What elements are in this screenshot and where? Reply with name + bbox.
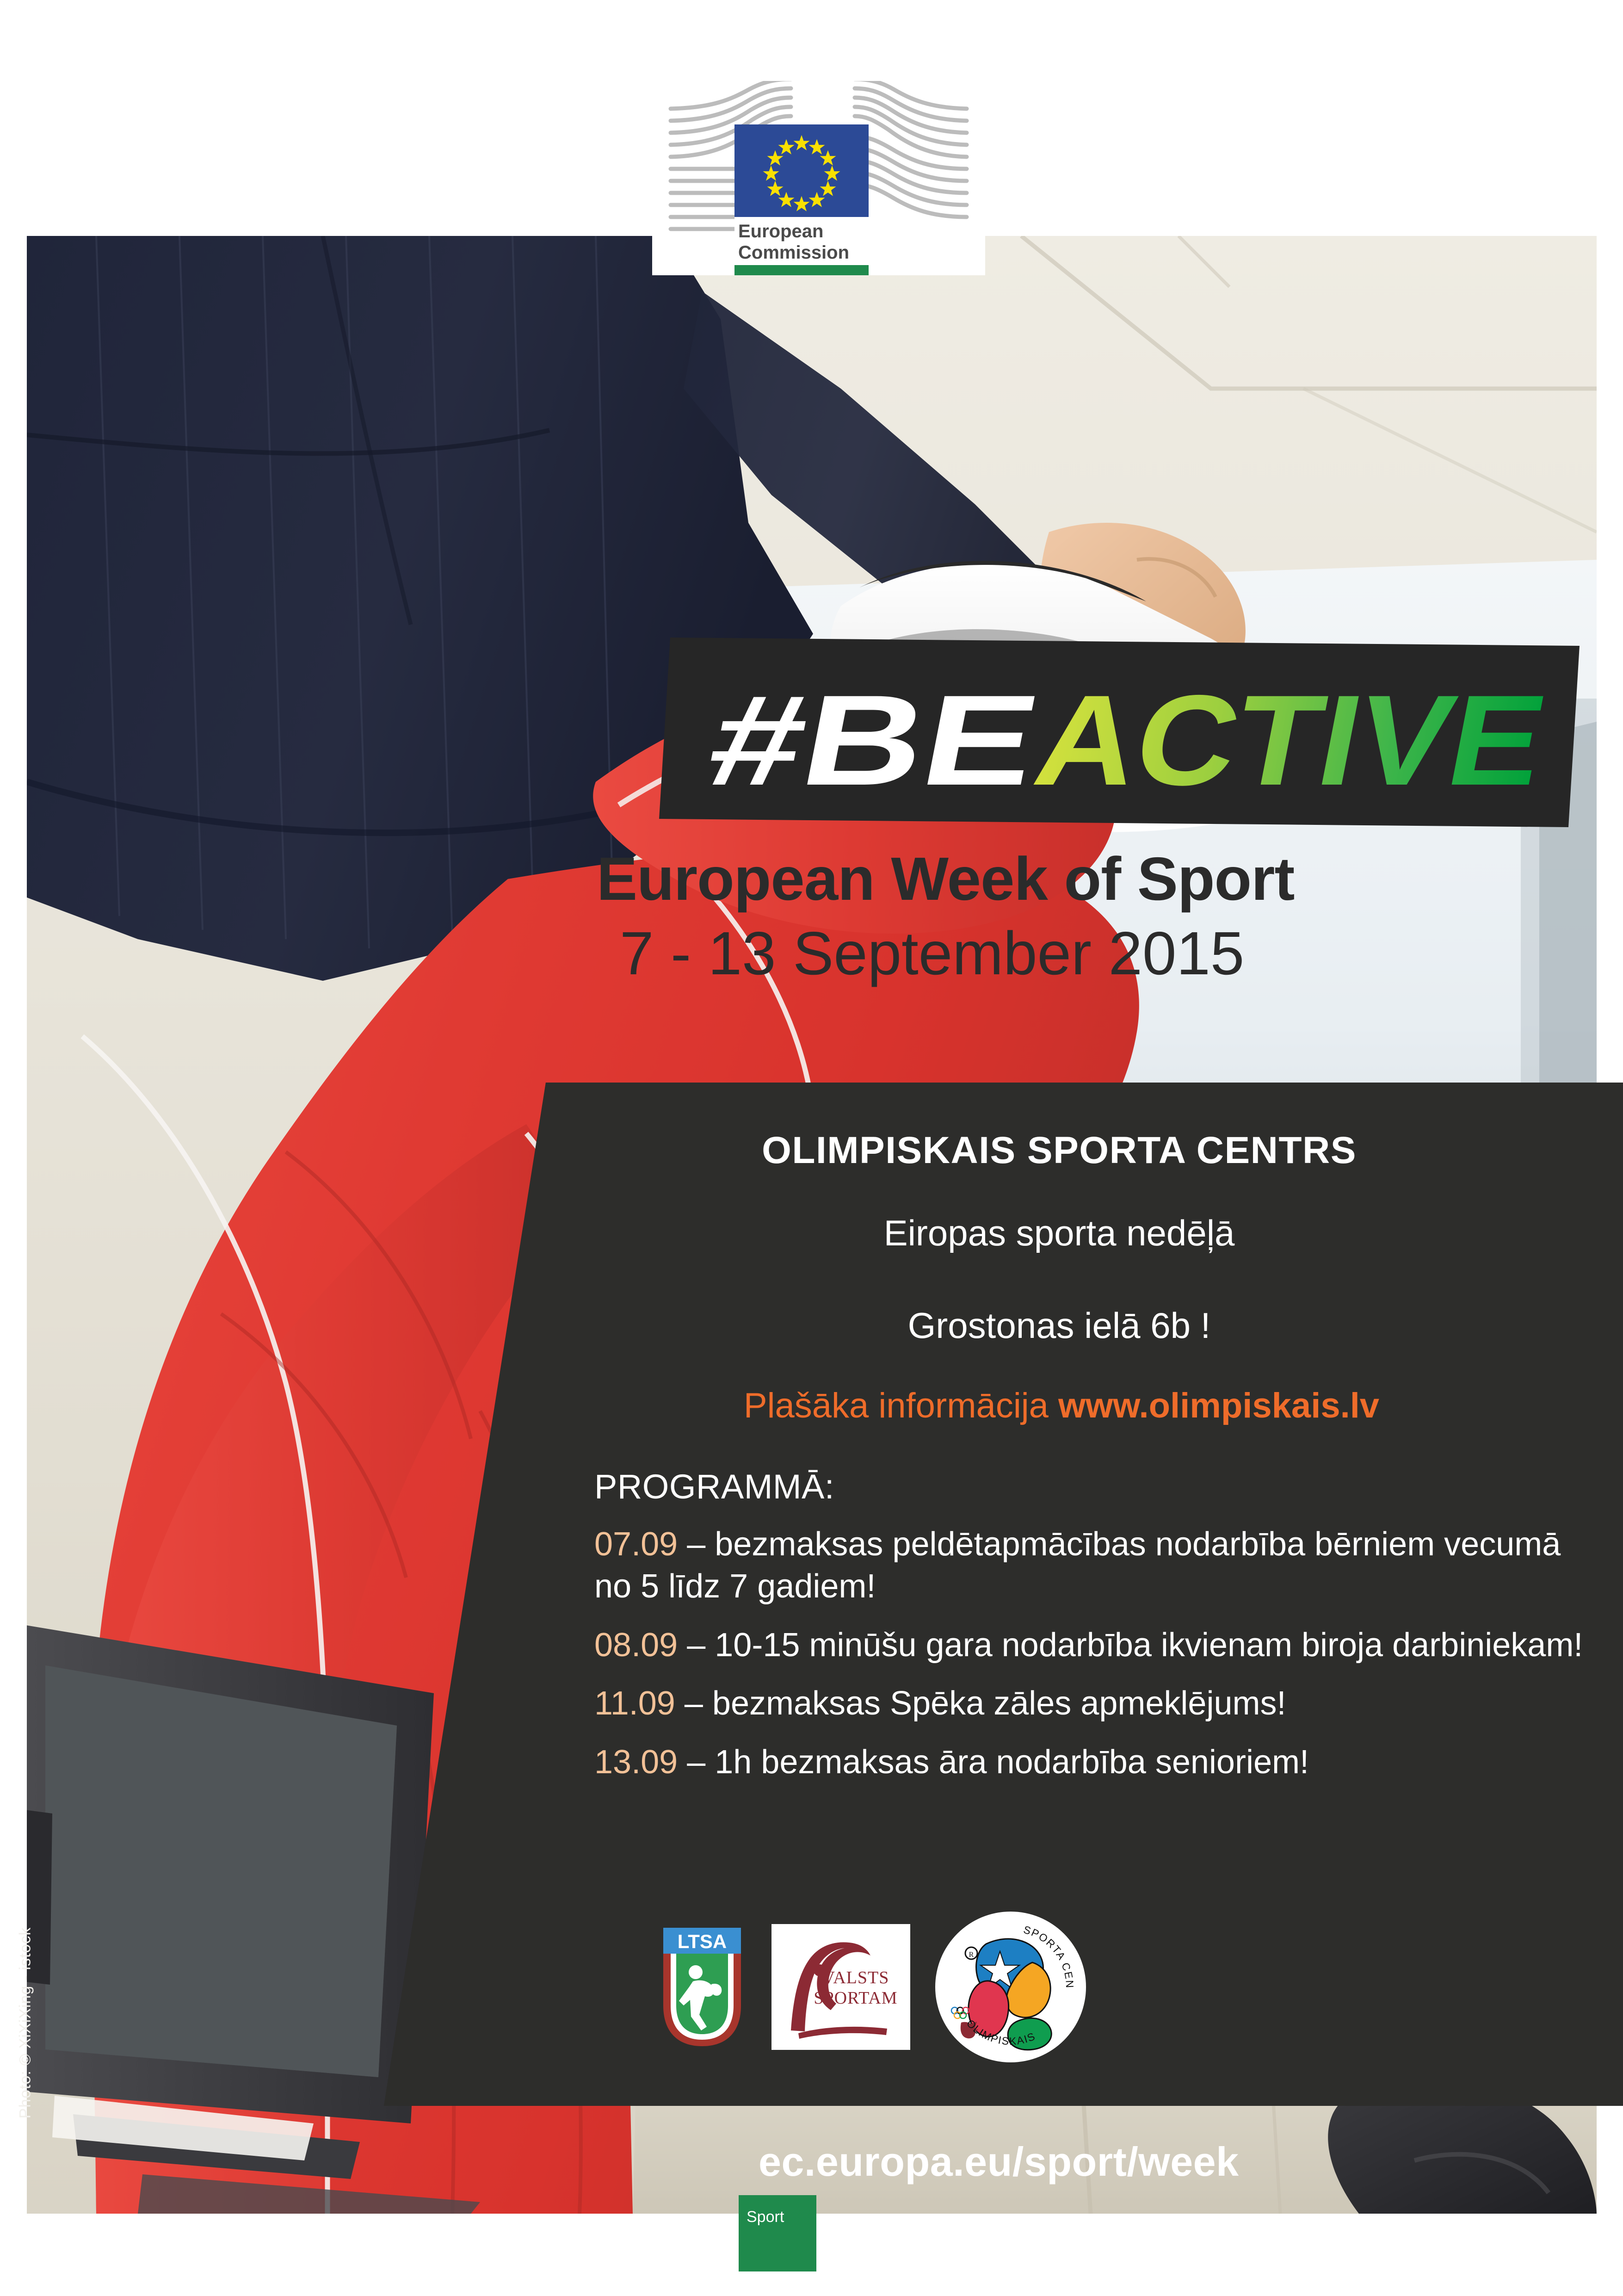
programme-item: 11.09 – bezmaksas Spēka zāles apmeklējum… (594, 1683, 1589, 1725)
venue-name: OLIMPISKAIS SPORTA CENTRS (569, 1129, 1549, 1172)
sponsor-logos: LTSA VALSTS SPORTAM (657, 1911, 1267, 2063)
sponsor-logo-olimpiskais-sporta-centrs: R SPORTA CENTRS (934, 1911, 1087, 2063)
programme-item-text: 10-15 minūšu gara nodarbība ikvienam bir… (715, 1627, 1583, 1664)
ltsa-label: LTSA (678, 1931, 727, 1952)
programme-item: 07.09 – bezmaksas peldētapmācības nodarb… (594, 1523, 1589, 1607)
programme-item-date: 11.09 (594, 1685, 675, 1722)
venue-address: Grostonas ielā 6b ! (569, 1305, 1549, 1347)
beactive-active-text: ACTIVE (1024, 668, 1556, 812)
valsts-sportam-line2: SPORTAM (814, 1988, 897, 2008)
eu-logo-line2: Commission (738, 242, 849, 263)
programme-item: 08.09 – 10-15 minūšu gara nodarbība ikvi… (594, 1624, 1589, 1666)
more-info-prefix: Plašāka informācija (744, 1386, 1058, 1425)
programme-item-dash: – (678, 1627, 715, 1664)
beactive-logo: #BE ACTIVE (659, 637, 1580, 827)
sport-badge: Sport (739, 2195, 816, 2271)
programme-heading: PROGRAMMĀ: (594, 1467, 1589, 1507)
programme-item-date: 08.09 (594, 1627, 678, 1664)
photo-credit: Photo: © XiXiXing - istock (17, 1878, 35, 2119)
programme-item-text: 1h bezmaksas āra nodarbība senioriem! (715, 1744, 1309, 1781)
venue-subtitle: Eiropas sporta nedēļā (569, 1212, 1549, 1254)
programme-item-dash: – (678, 1526, 715, 1563)
sponsor-logo-ltsa: LTSA (657, 1924, 747, 2050)
more-info-line: Plašāka informācija www.olimpiskais.lv (546, 1386, 1577, 1426)
programme-item-text: bezmaksas peldētapmācības nodarbība bērn… (594, 1526, 1561, 1605)
valsts-sportam-line1: VALSTS (822, 1968, 889, 1987)
sponsor-logo-valsts-sportam: VALSTS SPORTAM (771, 1924, 910, 2050)
event-title: European Week of Sport (587, 847, 1596, 911)
programme-item-dash: – (678, 1744, 715, 1781)
programme-list: PROGRAMMĀ: 07.09 – bezmaksas peldētapmāc… (594, 1467, 1589, 1783)
sport-badge-label: Sport (747, 2208, 784, 2226)
beactive-hashtag-text: #BE (698, 668, 1049, 812)
eu-logo-line1: European (738, 221, 823, 241)
more-info-url[interactable]: www.olimpiskais.lv (1058, 1386, 1379, 1425)
info-panel-content: OLIMPISKAIS SPORTA CENTRS Eiropas sporta… (0, 1083, 1623, 2114)
registered-mark: R (969, 1951, 974, 1959)
poster-canvas: Photo: © XiXiXing - istock (0, 0, 1623, 2296)
programme-item-text: bezmaksas Spēka zāles apmeklējums! (712, 1685, 1286, 1722)
programme-item: 13.09 – 1h bezmaksas āra nodarbība senio… (594, 1741, 1589, 1783)
campaign-url[interactable]: ec.europa.eu/sport/week (759, 2138, 1406, 2185)
event-dates: 7 - 13 September 2015 (587, 920, 1596, 987)
european-commission-logo: European Commission (652, 81, 985, 275)
programme-item-dash: – (675, 1685, 712, 1722)
programme-item-date: 13.09 (594, 1744, 678, 1781)
headline-block: European Week of Sport 7 - 13 September … (587, 847, 1596, 987)
programme-item-date: 07.09 (594, 1526, 678, 1563)
